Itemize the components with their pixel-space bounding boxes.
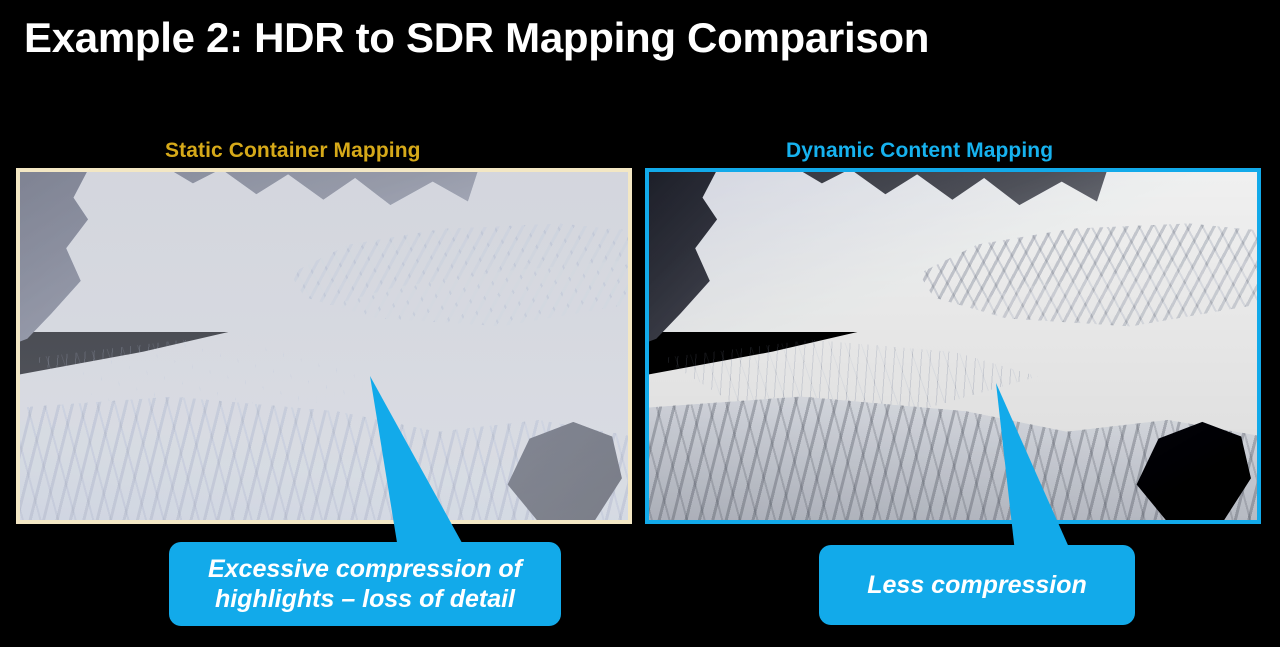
callout-line-2: highlights – loss of detail <box>208 584 522 615</box>
callout-line-1: Excessive compression of <box>208 554 522 585</box>
slide-canvas: Example 2: HDR to SDR Mapping Comparison… <box>0 0 1280 647</box>
callout-static-compression: Excessive compression of highlights – lo… <box>169 542 561 626</box>
mountain-glacier-scene <box>20 172 628 520</box>
glacier-photo-static <box>20 172 628 520</box>
mountain-glacier-scene <box>649 172 1257 520</box>
page-title: Example 2: HDR to SDR Mapping Comparison <box>24 14 929 62</box>
callout-text-block: Less compression <box>853 571 1101 600</box>
glacier-photo-dynamic <box>649 172 1257 520</box>
callout-text-block: Excessive compression of highlights – lo… <box>194 554 536 615</box>
panel-heading-dynamic-content-mapping: Dynamic Content Mapping <box>786 139 1053 163</box>
callout-dynamic-compression: Less compression <box>819 545 1135 625</box>
image-panel-static-container-mapping <box>16 168 632 524</box>
callout-line-1: Less compression <box>867 571 1087 600</box>
panel-heading-static-container-mapping: Static Container Mapping <box>165 139 421 163</box>
image-panel-dynamic-content-mapping <box>645 168 1261 524</box>
